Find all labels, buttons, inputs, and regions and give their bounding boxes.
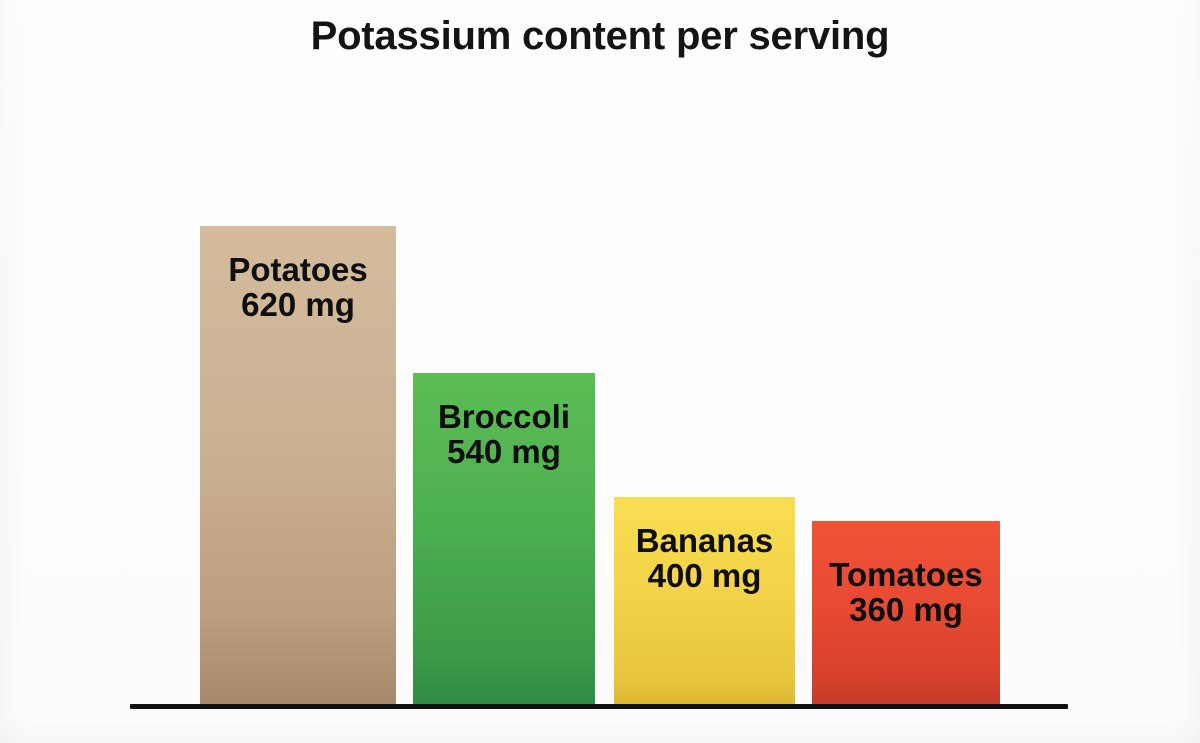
- bar-value-tomatoes: 360 mg: [818, 592, 994, 627]
- bar-value-bananas: 400 mg: [620, 558, 789, 593]
- bar-bananas[interactable]: Bananas 400 mg: [614, 497, 795, 707]
- bar-category-broccoli: Broccoli: [419, 399, 589, 434]
- bar-value-potatoes: 620 mg: [206, 287, 390, 322]
- bar-label-potatoes: Potatoes 620 mg: [200, 252, 396, 323]
- bar-value-broccoli: 540 mg: [419, 434, 589, 469]
- bar-potatoes[interactable]: Potatoes 620 mg: [200, 226, 396, 707]
- bar-category-bananas: Bananas: [620, 523, 789, 558]
- bar-category-tomatoes: Tomatoes: [818, 557, 994, 592]
- bar-broccoli[interactable]: Broccoli 540 mg: [413, 373, 595, 707]
- bar-label-tomatoes: Tomatoes 360 mg: [812, 557, 1000, 628]
- bar-category-potatoes: Potatoes: [206, 252, 390, 287]
- plot-area: Potatoes 620 mg Broccoli 540 mg Bananas …: [0, 0, 1200, 743]
- bar-label-broccoli: Broccoli 540 mg: [413, 399, 595, 470]
- chart-container: Potassium content per serving Potatoes 6…: [0, 0, 1200, 743]
- bar-tomatoes[interactable]: Tomatoes 360 mg: [812, 521, 1000, 707]
- x-axis-baseline: [130, 704, 1068, 709]
- bar-label-bananas: Bananas 400 mg: [614, 523, 795, 594]
